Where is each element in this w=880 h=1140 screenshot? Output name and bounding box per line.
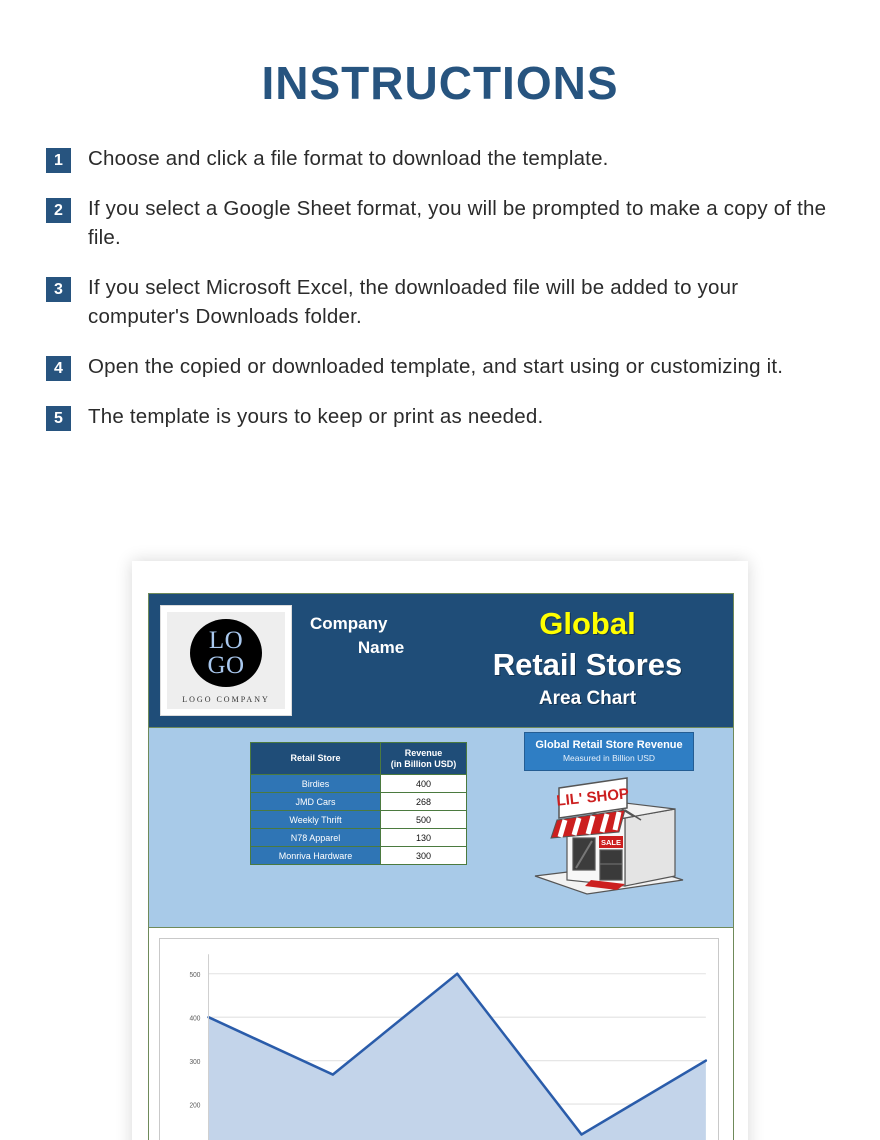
logo-inner: LO GO LOGO COMPANY: [167, 612, 285, 709]
column-header-revenue-line-1: Revenue: [385, 748, 462, 759]
table-header-row: Retail Store Revenue (in Billion USD): [251, 743, 467, 775]
cell-revenue: 400: [381, 775, 467, 793]
step-text: If you select Microsoft Excel, the downl…: [88, 273, 834, 331]
instructions-page: INSTRUCTIONS 1 Choose and click a file f…: [0, 0, 880, 1140]
list-item: 3 If you select Microsoft Excel, the dow…: [46, 273, 834, 331]
template-sheet: LO GO LOGO COMPANY Company Name Global R…: [148, 593, 734, 1140]
page-title: INSTRUCTIONS: [0, 0, 880, 110]
step-number-badge: 2: [46, 198, 71, 223]
chart-frame: 500 400 300 200: [159, 938, 719, 1140]
logo-line-2: GO: [207, 653, 244, 678]
y-tick-label: 400: [190, 1015, 201, 1022]
template-data-band: Retail Store Revenue (in Billion USD) Bi…: [148, 728, 734, 928]
area-chart: 500 400 300 200: [160, 939, 718, 1140]
y-tick-label: 300: [190, 1059, 201, 1066]
cell-revenue: 500: [381, 811, 467, 829]
shop-illustration-icon: LIL' SHOP SALE: [529, 776, 689, 901]
template-header: LO GO LOGO COMPANY Company Name Global R…: [148, 593, 734, 728]
title-highlight: Global: [452, 604, 723, 644]
chart-badge-title: Global Retail Store Revenue: [527, 738, 691, 752]
step-text: The template is yours to keep or print a…: [88, 402, 543, 431]
step-number-badge: 3: [46, 277, 71, 302]
logo-icon: LO GO: [190, 619, 262, 687]
company-name-line-1: Company: [310, 614, 387, 633]
title-subtitle: Area Chart: [452, 686, 723, 712]
chart-area-fill: [209, 974, 706, 1140]
step-text: If you select a Google Sheet format, you…: [88, 194, 834, 252]
step-number-badge: 4: [46, 356, 71, 381]
cell-store: Birdies: [251, 775, 381, 793]
table-row: Monriva Hardware 300: [251, 847, 467, 865]
step-number-badge: 1: [46, 148, 71, 173]
column-header-revenue-line-2: (in Billion USD): [385, 759, 462, 770]
template-preview-card[interactable]: LO GO LOGO COMPANY Company Name Global R…: [132, 561, 748, 1140]
cell-revenue: 300: [381, 847, 467, 865]
step-text: Open the copied or downloaded template, …: [88, 352, 783, 381]
cell-revenue: 130: [381, 829, 467, 847]
table-row: Birdies 400: [251, 775, 467, 793]
cell-store: Monriva Hardware: [251, 847, 381, 865]
instruction-list: 1 Choose and click a file format to down…: [46, 144, 834, 431]
table-row: N78 Apparel 130: [251, 829, 467, 847]
list-item: 5 The template is yours to keep or print…: [46, 402, 834, 431]
cell-store: Weekly Thrift: [251, 811, 381, 829]
list-item: 2 If you select a Google Sheet format, y…: [46, 194, 834, 252]
y-tick-label: 200: [190, 1102, 201, 1109]
logo-line-1: LO: [209, 628, 243, 653]
company-name-line-2: Name: [310, 636, 452, 660]
shop-sale-text: SALE: [601, 838, 621, 847]
chart-badge-subtitle: Measured in Billion USD: [527, 752, 691, 764]
list-item: 4 Open the copied or downloaded template…: [46, 352, 834, 381]
cell-revenue: 268: [381, 793, 467, 811]
template-titles: Global Retail Stores Area Chart: [452, 594, 733, 727]
table-row: JMD Cars 268: [251, 793, 467, 811]
step-number-badge: 5: [46, 406, 71, 431]
chart-title-badge: Global Retail Store Revenue Measured in …: [524, 732, 694, 771]
cell-store: JMD Cars: [251, 793, 381, 811]
step-text: Choose and click a file format to downlo…: [88, 144, 609, 173]
logo-placeholder: LO GO LOGO COMPANY: [160, 605, 292, 716]
company-name: Company Name: [292, 594, 452, 727]
title-main: Retail Stores: [452, 644, 723, 686]
logo-caption: LOGO COMPANY: [182, 695, 270, 704]
column-header-revenue: Revenue (in Billion USD): [381, 743, 467, 775]
list-item: 1 Choose and click a file format to down…: [46, 144, 834, 173]
revenue-table: Retail Store Revenue (in Billion USD) Bi…: [250, 742, 467, 865]
column-header-store: Retail Store: [251, 743, 381, 775]
template-chart-panel: 500 400 300 200: [148, 928, 734, 1140]
table-row: Weekly Thrift 500: [251, 811, 467, 829]
cell-store: N78 Apparel: [251, 829, 381, 847]
y-tick-label: 500: [190, 972, 201, 979]
